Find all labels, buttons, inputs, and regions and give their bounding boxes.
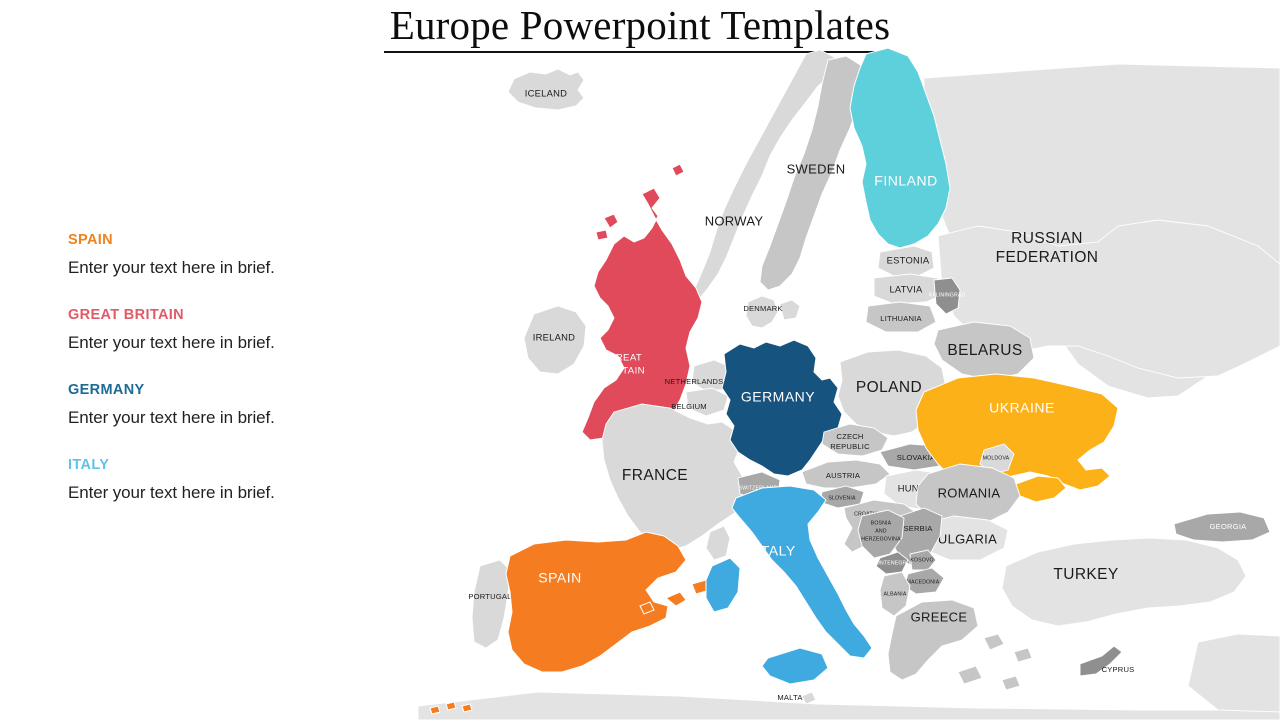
scotland-islands [596, 164, 684, 240]
label-macedonia: MACEDONIA [907, 579, 940, 585]
label-great-britain-line1: GREAT [608, 353, 642, 364]
label-great-britain-line2: BRITAIN [605, 366, 645, 377]
label-albania: ALBANIA [884, 591, 907, 597]
label-sweden: SWEDEN [787, 161, 846, 176]
country-spain[interactable] [506, 532, 686, 672]
country-denmark-islands[interactable] [780, 300, 800, 320]
label-russian-federation-line2: FEDERATION [996, 249, 1099, 266]
legend-item-spain-label: SPAIN [68, 231, 368, 249]
europe-map-container[interactable]: RUSSIAN FEDERATION ICELAND NORWAY SWEDEN… [418, 46, 1280, 720]
country-malta [802, 692, 816, 704]
sicily [762, 648, 828, 684]
label-georgia: GEORGIA [1210, 522, 1248, 531]
greek-islands [958, 634, 1032, 690]
label-ireland: IRELAND [533, 331, 575, 342]
corsica [706, 526, 730, 560]
label-belgium: BELGIUM [671, 402, 707, 411]
label-poland: POLAND [856, 379, 922, 396]
label-denmark: DENMARK [743, 304, 782, 313]
label-bosnia-line2: AND [875, 528, 887, 534]
label-finland: FINLAND [874, 173, 937, 189]
label-estonia: ESTONIA [887, 254, 930, 265]
label-kaliningrad: KALININGRAD [929, 292, 966, 298]
label-iceland: ICELAND [525, 87, 567, 98]
label-ukraine: UKRAINE [989, 400, 1055, 416]
legend-item-great-britain-label: GREAT BRITAIN [68, 306, 368, 324]
legend-list: SPAIN Enter your text here in brief. GRE… [68, 231, 368, 504]
legend-item-germany-description: Enter your text here in brief. [68, 407, 368, 429]
label-malta: MALTA [777, 693, 803, 702]
label-turkey: TURKEY [1053, 566, 1118, 583]
legend-item-spain-description: Enter your text here in brief. [68, 257, 368, 279]
country-portugal[interactable] [472, 560, 510, 648]
label-slovenia: SLOVENIA [828, 495, 856, 501]
label-spain: SPAIN [538, 570, 581, 586]
label-latvia: LATVIA [889, 283, 923, 294]
label-lithuania: LITHUANIA [880, 314, 922, 323]
label-italy: ITALY [756, 543, 795, 559]
legend-item-italy-label: ITALY [68, 456, 368, 474]
country-north-africa[interactable] [418, 692, 1280, 720]
slide-canvas: Europe Powerpoint Templates SPAIN Enter … [0, 0, 1280, 720]
label-portugal: PORTUGAL [468, 592, 511, 601]
label-moldova: MOLDOVA [983, 455, 1010, 461]
label-france: FRANCE [622, 467, 688, 484]
label-norway: NORWAY [705, 213, 764, 228]
legend-item-italy-description: Enter your text here in brief. [68, 482, 368, 504]
legend-item-germany[interactable]: GERMANY Enter your text here in brief. [68, 381, 368, 429]
label-romania: ROMANIA [938, 485, 1001, 500]
country-germany[interactable] [722, 340, 842, 476]
label-bosnia-line3: HERZEGOVINA [861, 536, 901, 542]
label-czech-line2: REPUBLIC [830, 442, 870, 451]
british-isles-group[interactable]: IRELAND GREAT BRITAIN [524, 164, 702, 440]
label-cyprus: CYPRUS [1102, 665, 1135, 674]
legend-item-italy[interactable]: ITALY Enter your text here in brief. [68, 456, 368, 504]
title-container: Europe Powerpoint Templates [0, 0, 1280, 52]
legend-item-great-britain[interactable]: GREAT BRITAIN Enter your text here in br… [68, 306, 368, 354]
label-montenegro: MONTENEGRO [871, 560, 910, 566]
label-slovakia: SLOVAKIA [897, 453, 936, 462]
legend-item-great-britain-description: Enter your text here in brief. [68, 332, 368, 354]
country-turkey[interactable] [1002, 538, 1246, 626]
label-serbia: SERBIA [903, 524, 933, 533]
label-austria: AUSTRIA [826, 471, 861, 480]
label-kosovo: KOSOVO [910, 557, 933, 563]
sardinia [706, 558, 740, 612]
legend-item-spain[interactable]: SPAIN Enter your text here in brief. [68, 231, 368, 279]
iceland-group[interactable]: ICELAND [508, 69, 584, 110]
label-germany: GERMANY [741, 389, 815, 405]
label-bosnia-line1: BOSNIA [871, 520, 892, 526]
crimea [1016, 476, 1066, 502]
label-netherlands: NETHERLANDS [665, 377, 724, 386]
label-greece: GREECE [911, 609, 968, 624]
label-belarus: BELARUS [947, 342, 1022, 359]
label-czech-line1: CZECH [836, 432, 863, 441]
legend-item-germany-label: GERMANY [68, 381, 368, 399]
europe-map-svg[interactable]: RUSSIAN FEDERATION ICELAND NORWAY SWEDEN… [418, 46, 1280, 720]
country-middle-east[interactable] [1188, 634, 1280, 712]
label-russian-federation-line1: RUSSIAN [1011, 230, 1083, 247]
